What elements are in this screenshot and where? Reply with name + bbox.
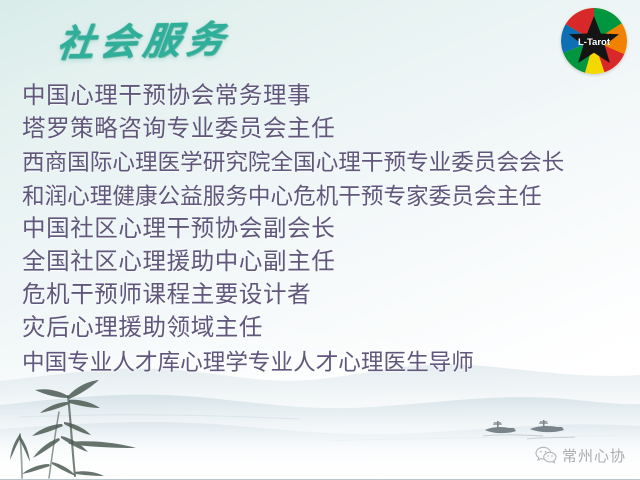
watermark: 常州心协 [535,445,626,466]
page-title: 社会服务 [58,10,230,66]
list-item: 中国社区心理干预协会副会长 [22,213,622,246]
list-item: 灾后心理援助领域主任 [22,312,622,345]
boats-illustration [483,416,575,442]
wechat-icon [535,446,557,465]
slide-canvas: 社会服务 L-Tarot 中国心理干预协会常务理事 塔罗策略咨询专业委员会主 [0,0,640,480]
credentials-list: 中国心理干预协会常务理事 塔罗策略咨询专业委员会主任 西商国际心理医学研究院全国… [22,80,622,379]
list-item: 中国心理干预协会常务理事 [22,80,622,113]
list-item: 全国社区心理援助中心副主任 [22,246,622,279]
watermark-text: 常州心协 [562,445,626,466]
logo-label: L-Tarot [578,37,611,48]
list-item: 和润心理健康公益服务中心危机干预专家委员会主任 [22,180,622,213]
list-item: 西商国际心理医学研究院全国心理干预专业委员会会长 [22,146,622,179]
list-item: 中国专业人才库心理学专业人才心理医生导师 [22,346,622,379]
page-title-text: 社会服务 [54,9,234,68]
list-item: 塔罗策略咨询专业委员会主任 [22,113,622,146]
list-item: 危机干预师课程主要设计者 [22,279,622,312]
bamboo-illustration [2,372,177,480]
l-tarot-logo: L-Tarot [561,8,627,74]
